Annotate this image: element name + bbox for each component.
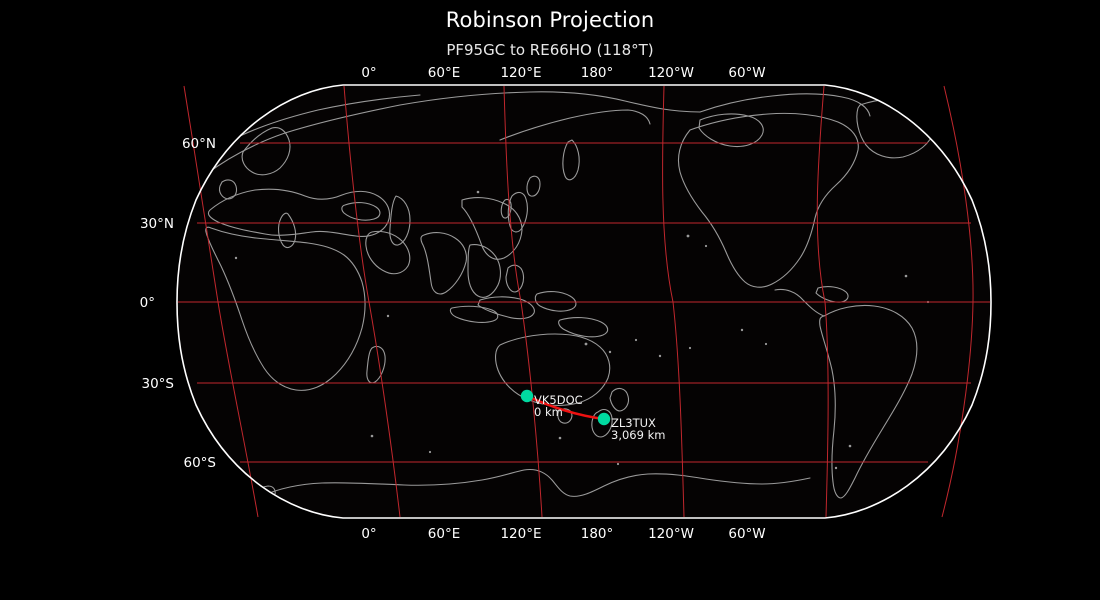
lon-tick-bottom-0: 0° bbox=[361, 526, 376, 542]
lon-tick-top-0: 0° bbox=[361, 65, 376, 81]
lon-tick-labels-bottom: 0° 60°E 120°E 180° 120°W 60°W bbox=[361, 526, 765, 542]
lat-tick-30S: 30°S bbox=[142, 376, 175, 392]
lat-tick-60N: 60°N bbox=[182, 136, 216, 152]
lon-tick-top-5: 60°W bbox=[728, 65, 765, 81]
lon-tick-bottom-3: 180° bbox=[581, 526, 614, 542]
lon-tick-bottom-5: 60°W bbox=[728, 526, 765, 542]
lon-tick-bottom-4: 120°W bbox=[648, 526, 694, 542]
marker-destination[interactable] bbox=[598, 413, 610, 425]
lon-tick-bottom-1: 60°E bbox=[428, 526, 460, 542]
lon-tick-top-3: 180° bbox=[581, 65, 614, 81]
lon-tick-top-1: 60°E bbox=[428, 65, 460, 81]
map-figure: Robinson Projection PF95GC to RE66HO (11… bbox=[0, 0, 1100, 600]
lon-tick-top-4: 120°W bbox=[648, 65, 694, 81]
lat-tick-60S: 60°S bbox=[184, 455, 217, 471]
lat-tick-30N: 30°N bbox=[140, 216, 174, 232]
lon-tick-labels-top: 0° 60°E 120°E 180° 120°W 60°W bbox=[361, 65, 765, 81]
marker-origin[interactable] bbox=[521, 390, 533, 402]
map-canvas[interactable]: VK5DOC 0 km ZL3TUX 3,069 km 0° 60°E 120°… bbox=[0, 0, 1100, 600]
origin-distance-label: 0 km bbox=[534, 405, 563, 419]
lon-tick-top-2: 120°E bbox=[500, 65, 541, 81]
destination-distance-label: 3,069 km bbox=[611, 428, 665, 442]
lat-tick-0: 0° bbox=[140, 295, 155, 311]
lon-tick-bottom-2: 120°E bbox=[500, 526, 541, 542]
